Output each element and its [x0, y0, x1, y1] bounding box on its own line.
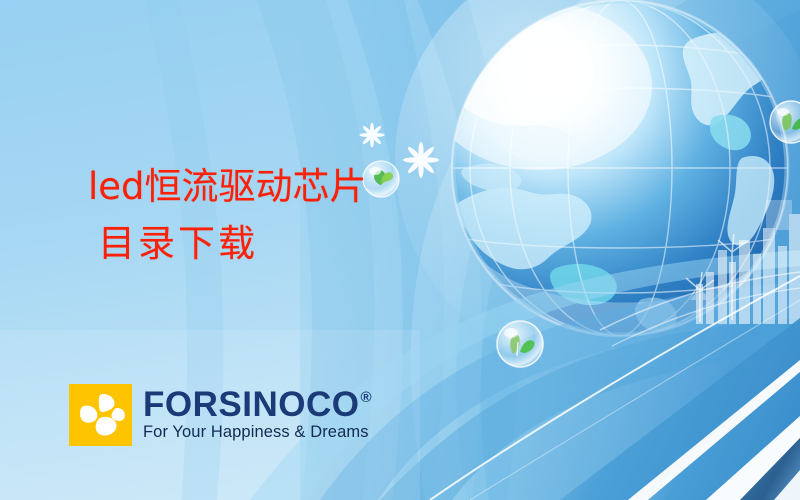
headline-line-2: 目录下载: [98, 225, 367, 262]
flower-small-graphic: [360, 123, 385, 148]
logo-brand-row: FORSINOCO ®: [143, 388, 372, 422]
logo-flower-icon: [69, 384, 132, 446]
flower-large-graphic: [403, 142, 439, 178]
company-logo: FORSINOCO ® For Your Happiness & Dreams: [69, 384, 372, 446]
headline-line-1: led恒流驱动芯片: [88, 168, 367, 205]
registered-trademark-icon: ®: [360, 390, 372, 405]
logo-tagline: For Your Happiness & Dreams: [143, 424, 372, 441]
headline: led恒流驱动芯片 目录下载: [88, 168, 367, 262]
logo-wordmark: FORSINOCO ® For Your Happiness & Dreams: [143, 384, 372, 441]
banner-image: led恒流驱动芯片 目录下载 FORSINOCO ® For Your Happ…: [0, 0, 800, 500]
bubble-center-graphic: [497, 321, 543, 367]
logo-brand-name: FORSINOCO: [143, 388, 359, 422]
bubble-left-graphic: [363, 161, 399, 197]
